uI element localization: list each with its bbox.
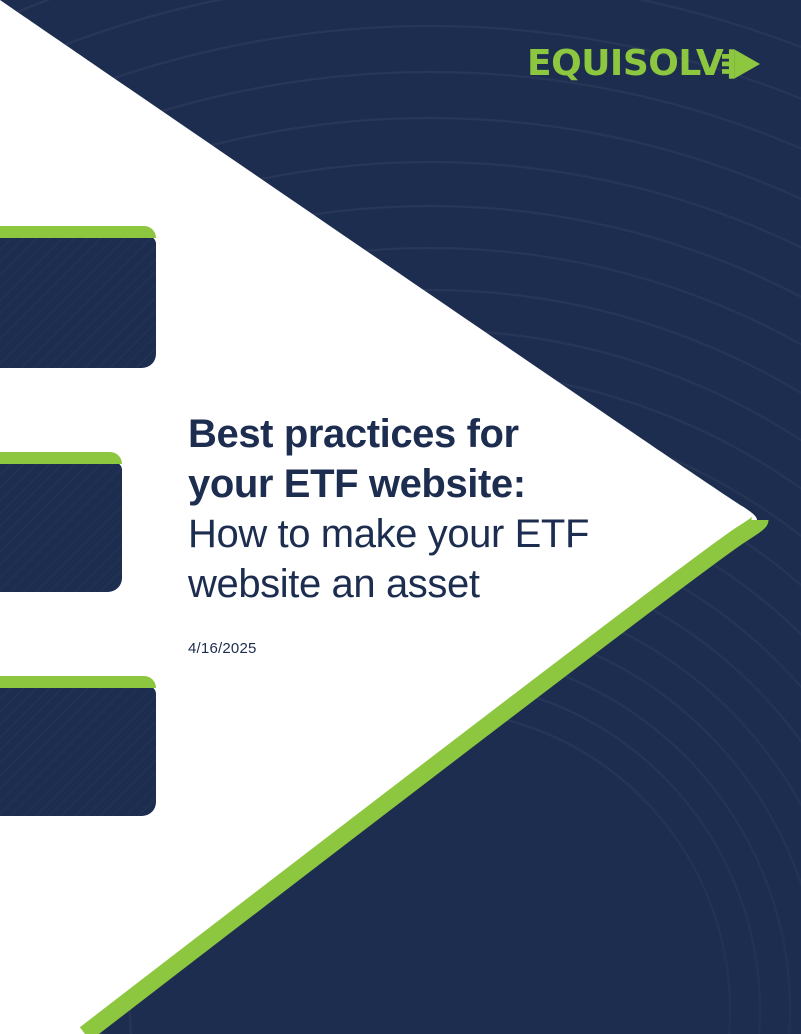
document-cover-page: EQUISOLV Best practices for your ETF web… — [0, 0, 801, 1034]
title-line-2: your ETF website: — [188, 459, 688, 509]
logo-wordmark: EQUISOLV — [527, 46, 723, 82]
decorative-square-3 — [0, 676, 156, 816]
decorative-square-2 — [0, 452, 122, 592]
decorative-square-body — [0, 686, 156, 816]
decorative-square-green-bar — [0, 226, 156, 238]
title-line-3: How to make your ETF — [188, 509, 688, 559]
document-date: 4/16/2025 — [188, 640, 257, 657]
decorative-square-1 — [0, 226, 156, 368]
equisolve-arrow-e-icon — [722, 41, 762, 87]
title-line-4: website an asset — [188, 559, 688, 609]
equisolve-logo: EQUISOLV — [527, 41, 762, 87]
cover-title: Best practices for your ETF website: How… — [188, 409, 688, 609]
decorative-square-body — [0, 462, 122, 592]
decorative-square-green-bar — [0, 676, 156, 688]
title-line-1: Best practices for — [188, 409, 688, 459]
decorative-square-green-bar — [0, 452, 122, 464]
decorative-square-body — [0, 236, 156, 368]
